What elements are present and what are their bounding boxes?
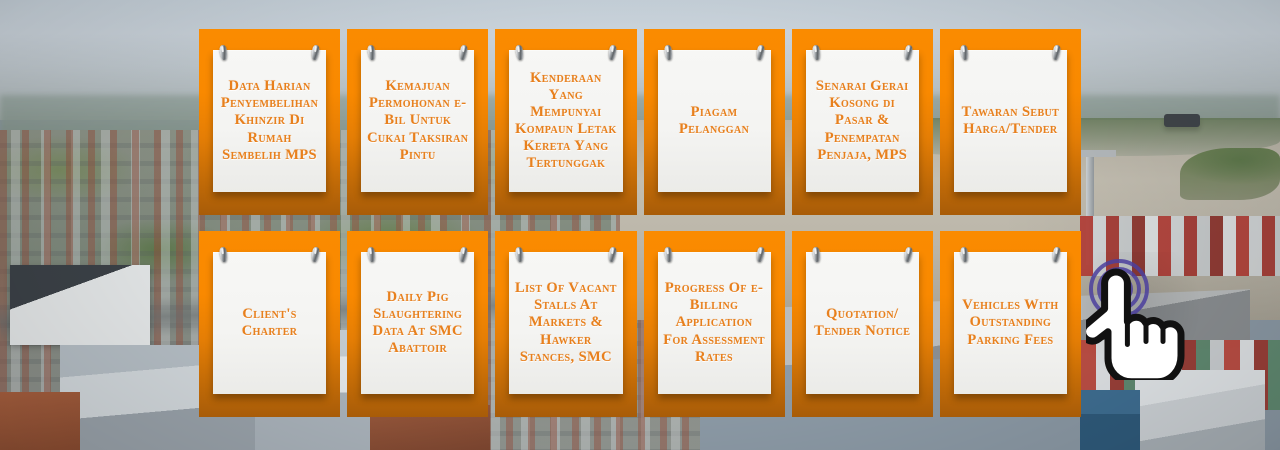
pin-icon [663, 45, 672, 61]
card-title: List Of Vacant Stalls At Markets & Hawke… [513, 280, 618, 366]
card-paper: Kenderaan Yang Mempunyai Kompaun Letak K… [509, 50, 622, 192]
card-paper: Client's Charter [213, 252, 326, 394]
service-card-piagam-pelanggan[interactable]: Piagam Pelanggan [644, 29, 785, 215]
card-title: Kenderaan Yang Mempunyai Kompaun Letak K… [513, 70, 618, 173]
card-title: Client's Charter [217, 306, 322, 340]
card-paper: Piagam Pelanggan [658, 50, 771, 192]
pin-icon [1052, 45, 1061, 61]
card-title: Progress Of e-Billing Application For As… [662, 280, 767, 366]
pin-icon [311, 45, 320, 61]
pin-icon [311, 247, 320, 263]
card-paper: Kemajuan Permohonan e-Bil Untuk Cukai Ta… [361, 50, 474, 192]
service-card-senarai-gerai-kosong[interactable]: Senarai Gerai Kosong di Pasar & Penempat… [792, 29, 933, 215]
pin-icon [960, 247, 969, 263]
card-paper: Senarai Gerai Kosong di Pasar & Penempat… [806, 50, 919, 192]
service-card-kemajuan-permohonan-e-bil[interactable]: Kemajuan Permohonan e-Bil Untuk Cukai Ta… [347, 29, 488, 215]
service-card-daily-pig-slaughtering-data[interactable]: Daily Pig Slaughtering Data At SMC Abatt… [347, 231, 488, 417]
pin-icon [904, 247, 913, 263]
card-title: Quotation/ Tender Notice [810, 306, 915, 340]
service-card-quotation-tender-notice[interactable]: Quotation/ Tender Notice [792, 231, 933, 417]
service-card-data-harian-penyembelihan[interactable]: Data Harian Penyembelihan Khinzir Di Rum… [199, 29, 340, 215]
card-title: Tawaran Sebut Harga/Tender [958, 104, 1063, 138]
pin-icon [607, 45, 616, 61]
service-card-kenderaan-kompaun-letak-kereta[interactable]: Kenderaan Yang Mempunyai Kompaun Letak K… [495, 29, 636, 215]
pin-icon [367, 247, 376, 263]
service-card-grid: Data Harian Penyembelihan Khinzir Di Rum… [199, 29, 1081, 421]
card-paper: Vehicles With Outstanding Parking Fees [954, 252, 1067, 394]
pin-icon [756, 45, 765, 61]
card-paper: Data Harian Penyembelihan Khinzir Di Rum… [213, 50, 326, 192]
pin-icon [515, 45, 524, 61]
pin-icon [1052, 247, 1061, 263]
pin-icon [812, 45, 821, 61]
pin-icon [219, 45, 228, 61]
card-paper: Tawaran Sebut Harga/Tender [954, 50, 1067, 192]
card-paper: Quotation/ Tender Notice [806, 252, 919, 394]
pin-icon [960, 45, 969, 61]
pin-icon [459, 247, 468, 263]
card-title: Daily Pig Slaughtering Data At SMC Abatt… [365, 289, 470, 357]
card-title: Senarai Gerai Kosong di Pasar & Penempat… [810, 78, 915, 164]
pin-icon [459, 45, 468, 61]
card-title: Piagam Pelanggan [662, 104, 767, 138]
service-card-progress-of-e-billing[interactable]: Progress Of e-Billing Application For As… [644, 231, 785, 417]
service-card-list-of-vacant-stalls[interactable]: List Of Vacant Stalls At Markets & Hawke… [495, 231, 636, 417]
pin-icon [904, 45, 913, 61]
pin-icon [515, 247, 524, 263]
card-title: Kemajuan Permohonan e-Bil Untuk Cukai Ta… [365, 78, 470, 164]
pin-icon [219, 247, 228, 263]
pin-icon [663, 247, 672, 263]
card-paper: Progress Of e-Billing Application For As… [658, 252, 771, 394]
card-paper: Daily Pig Slaughtering Data At SMC Abatt… [361, 252, 474, 394]
pin-icon [812, 247, 821, 263]
service-card-clients-charter[interactable]: Client's Charter [199, 231, 340, 417]
page-root: Data Harian Penyembelihan Khinzir Di Rum… [0, 0, 1280, 450]
service-card-tawaran-sebut-harga-tender[interactable]: Tawaran Sebut Harga/Tender [940, 29, 1081, 215]
card-title: Vehicles With Outstanding Parking Fees [958, 297, 1063, 348]
pin-icon [607, 247, 616, 263]
card-title: Data Harian Penyembelihan Khinzir Di Rum… [217, 78, 322, 164]
service-card-vehicles-outstanding-parking[interactable]: Vehicles With Outstanding Parking Fees [940, 231, 1081, 417]
card-paper: List Of Vacant Stalls At Markets & Hawke… [509, 252, 622, 394]
pin-icon [756, 247, 765, 263]
pin-icon [367, 45, 376, 61]
